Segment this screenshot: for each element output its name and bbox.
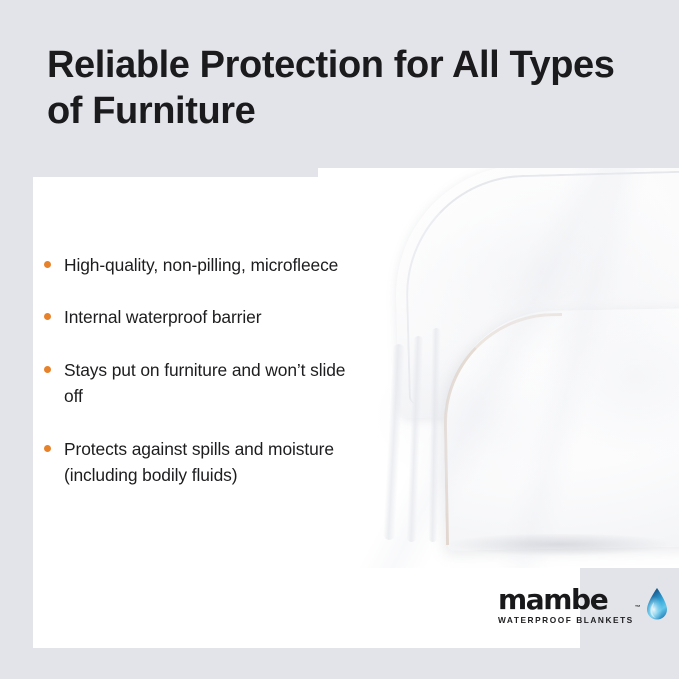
list-item-label: High-quality, non-pilling, microfleece	[64, 255, 338, 275]
list-item: High-quality, non-pilling, microfleece	[33, 252, 363, 278]
water-droplet-icon	[643, 587, 671, 623]
brand-wordmark: mambe	[498, 586, 634, 614]
bullet-dot-icon	[44, 445, 51, 452]
brand-logo-text: mambe ™ WATERPROOF BLANKETS	[498, 586, 634, 624]
brand-tagline: WATERPROOF BLANKETS	[498, 616, 634, 624]
page-title: Reliable Protection for All Types of Fur…	[47, 42, 627, 135]
list-item: Protects against spills and moisture (in…	[33, 436, 363, 489]
feature-list: High-quality, non-pilling, microfleece I…	[33, 252, 363, 489]
bullet-dot-icon	[44, 366, 51, 373]
list-item-label: Stays put on furniture and won’t slide o…	[64, 360, 345, 406]
brand-logo: mambe ™ WATERPROOF BLANKETS	[498, 586, 671, 624]
list-item-label: Protects against spills and moisture (in…	[64, 439, 334, 485]
product-infographic: Reliable Protection for All Types of Fur…	[0, 0, 679, 679]
list-item-label: Internal waterproof barrier	[64, 307, 261, 327]
trademark-symbol: ™	[635, 605, 641, 611]
list-item: Internal waterproof barrier	[33, 304, 363, 330]
bullet-dot-icon	[44, 313, 51, 320]
list-item: Stays put on furniture and won’t slide o…	[33, 357, 363, 410]
bullet-dot-icon	[44, 261, 51, 268]
